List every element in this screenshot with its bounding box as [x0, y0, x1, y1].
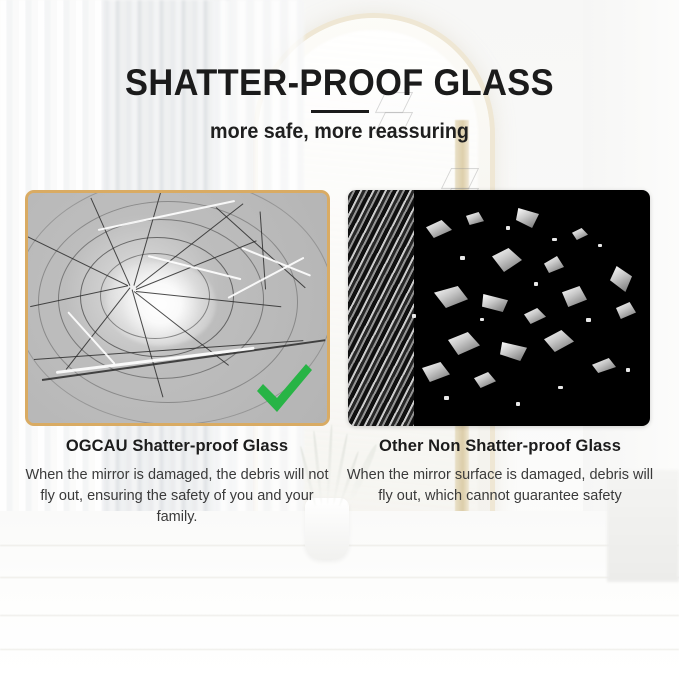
glass-shard	[448, 332, 480, 355]
non-shatter-proof-image-panel	[348, 190, 650, 426]
glass-shard	[434, 286, 468, 308]
breaking-edge	[348, 190, 414, 426]
glass-shard	[474, 372, 496, 388]
glass-shard	[572, 228, 588, 240]
glass-shard	[616, 302, 636, 319]
glass-fragment	[444, 396, 449, 400]
glass-fragment	[480, 318, 484, 321]
glass-fragment	[412, 314, 416, 318]
glass-shard	[524, 308, 546, 324]
glass-shard	[610, 266, 632, 292]
glass-shard	[482, 294, 508, 312]
glass-fragment	[558, 386, 563, 389]
title-divider	[311, 110, 369, 113]
glass-shard	[562, 286, 587, 307]
page-subtitle: more safe, more reassuring	[20, 120, 658, 144]
glass-fragment	[586, 318, 591, 322]
page-title: SHATTER-PROOF GLASS	[24, 62, 655, 104]
glass-shard	[426, 220, 452, 238]
glass-shard	[422, 362, 450, 382]
glass-fragment	[598, 244, 602, 247]
glass-shard	[544, 256, 564, 273]
glass-shard	[544, 330, 574, 352]
floor-plank	[0, 649, 679, 650]
right-caption-body: When the mirror surface is damaged, debr…	[344, 465, 656, 507]
glass-fragment	[534, 282, 538, 286]
glass-shard	[466, 212, 484, 225]
glass-fragment	[516, 402, 520, 406]
right-caption-block: Other Non Shatter-proof Glass When the m…	[344, 436, 656, 507]
glass-fragment	[552, 238, 557, 241]
glass-fragment	[626, 368, 630, 372]
left-caption-body: When the mirror is damaged, the debris w…	[18, 465, 336, 528]
right-caption-heading: Other Non Shatter-proof Glass	[349, 436, 652, 456]
left-caption-heading: OGCAU Shatter-proof Glass	[23, 436, 331, 456]
glass-fragment	[460, 256, 465, 260]
glass-shard	[592, 358, 616, 373]
left-caption-block: OGCAU Shatter-proof Glass When the mirro…	[18, 436, 336, 528]
infographic-page: SHATTER-PROOF GLASS more safe, more reas…	[0, 0, 679, 679]
shatter-proof-image-panel	[25, 190, 330, 426]
floor-plank	[0, 615, 679, 616]
glass-shard	[492, 248, 522, 272]
glass-fragment	[506, 226, 510, 230]
glass-shard	[516, 208, 539, 228]
green-checkmark-icon	[253, 361, 315, 417]
glass-shard	[500, 342, 527, 361]
floor-plank	[0, 577, 679, 578]
